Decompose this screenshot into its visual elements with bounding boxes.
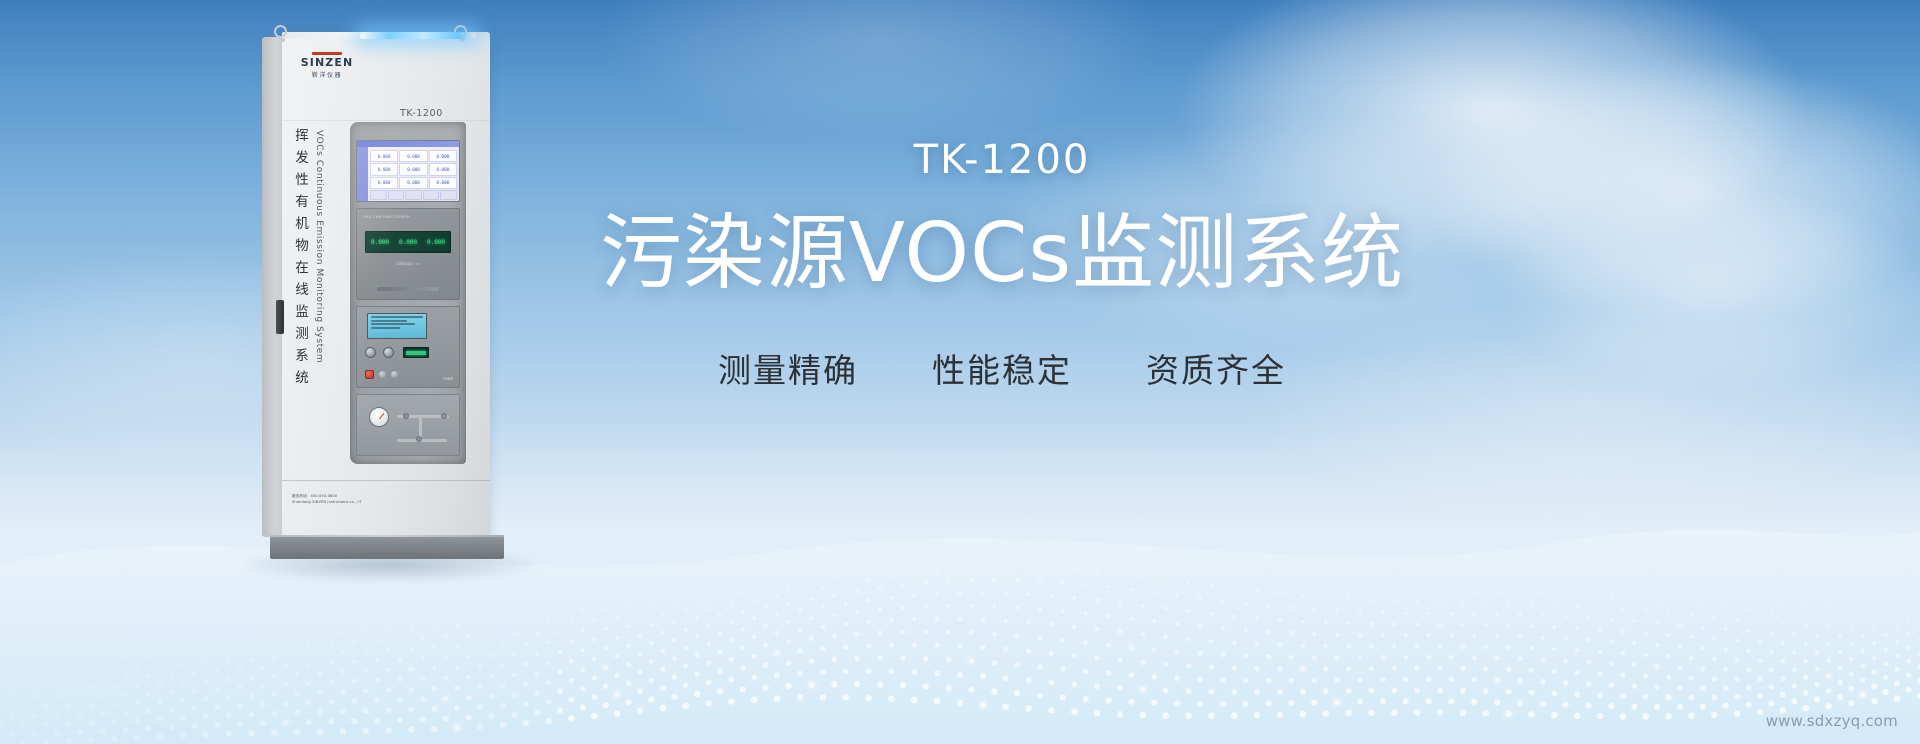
cabinet-plinth <box>270 537 504 559</box>
instrument-bay: 0.000 0.000 0.000 0.000 0.000 0.000 0.00… <box>350 122 466 464</box>
cabinet-side-panel <box>262 37 284 537</box>
brand-accent-bar <box>312 52 342 55</box>
product-model: TK-1200 <box>552 140 1452 180</box>
cabinet-footer-text: 服务热线：400-050-0800 Shandong SINZEN Instru… <box>292 494 462 505</box>
cabinet-model-label: TK-1200 <box>400 108 443 119</box>
status-led-strip <box>360 32 476 39</box>
company-name-en: Shandong SINZEN Instrument co., LT <box>292 500 462 506</box>
feature-item: 性能稳定 <box>932 344 1072 392</box>
cloud-decoration <box>600 0 1160 140</box>
panel-seam <box>282 120 490 121</box>
bay-glass-reflection <box>350 122 466 464</box>
brand-logo: SINZEN 崭洋仪器 <box>290 52 364 79</box>
lifting-eye-icon <box>274 25 287 38</box>
cloud-decoration <box>1430 60 1920 320</box>
hero-copy: TK-1200 污染源VOCs监测系统 测量精确 性能稳定 资质齐全 <box>552 140 1452 392</box>
door-handle <box>276 300 284 334</box>
hero-headline: 污染源VOCs监测系统 <box>552 208 1452 300</box>
brand-name: SINZEN <box>290 56 364 69</box>
cloud-decoration <box>1500 190 1920 390</box>
hero-banner: SINZEN 崭洋仪器 TK-1200 挥发性有机物在线监测系统 VOCs Co… <box>0 0 1920 744</box>
feature-item: 测量精确 <box>718 344 858 392</box>
panel-seam <box>282 480 490 481</box>
site-watermark: www.sdxzyq.com <box>1766 712 1898 730</box>
feature-item: 资质齐全 <box>1146 344 1286 392</box>
brand-name-cn: 崭洋仪器 <box>290 70 364 79</box>
cabinet-vertical-title-en: VOCs Continuous Emission Monitoring Syst… <box>314 130 324 363</box>
product-cabinet: SINZEN 崭洋仪器 TK-1200 挥发性有机物在线监测系统 VOCs Co… <box>262 24 512 564</box>
feature-list: 测量精确 性能稳定 资质齐全 <box>552 344 1452 392</box>
cabinet-vertical-title-cn: 挥发性有机物在线监测系统 <box>290 128 310 392</box>
